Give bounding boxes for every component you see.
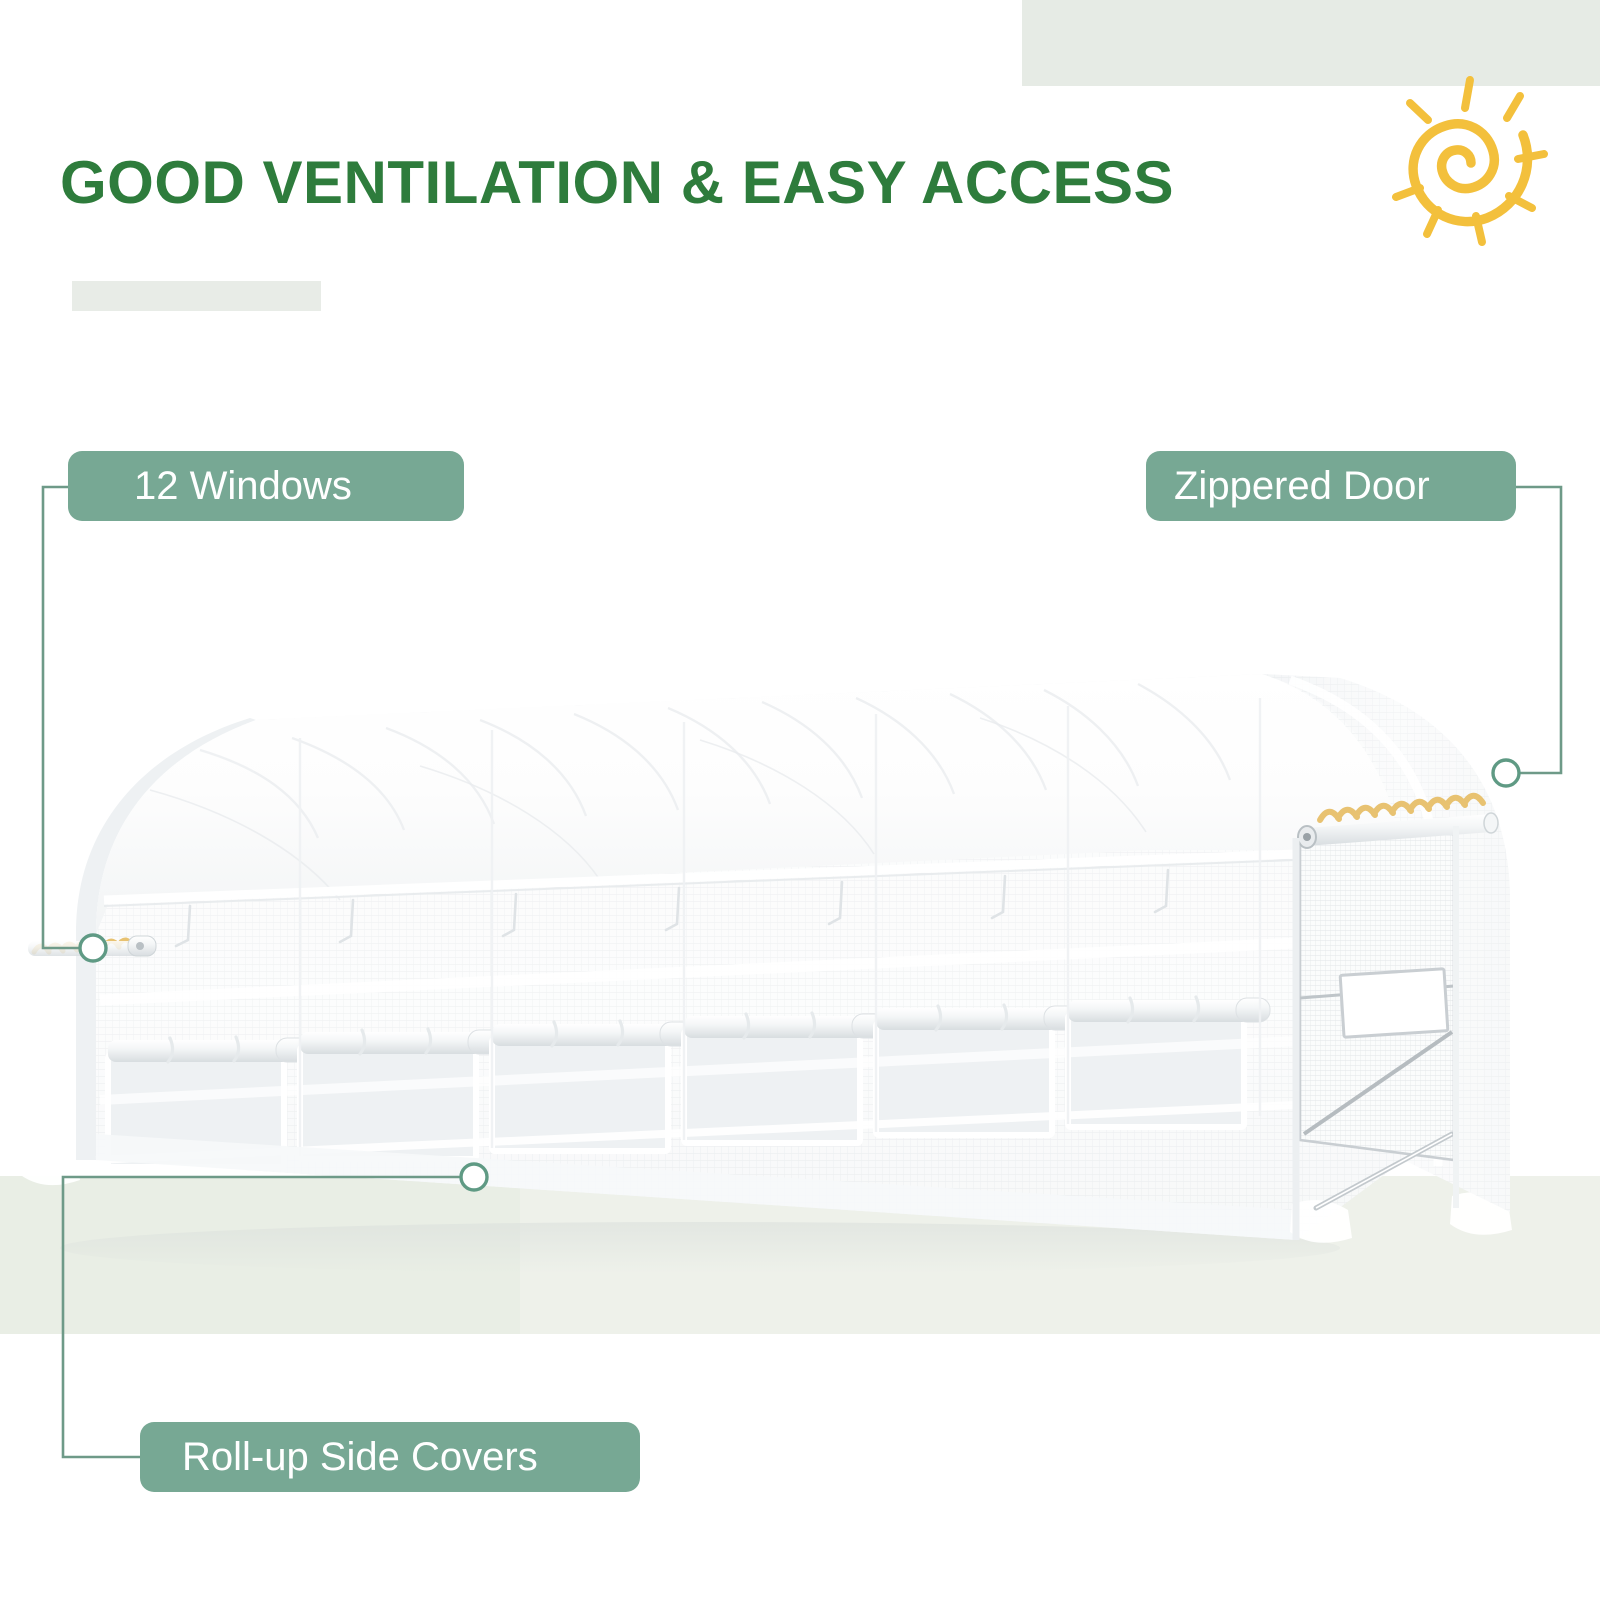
product-image-greenhouse [0,600,1600,1320]
callout-label-windows[interactable]: 12 Windows [68,451,464,521]
page-title: GOOD VENTILATION & EASY ACCESS [60,148,1174,217]
sun-icon [1352,62,1557,262]
infographic-canvas: GOOD VENTILATION & EASY ACCESS [0,0,1600,1600]
decorative-band-under-title [72,281,321,311]
callout-label-zippered-door[interactable]: Zippered Door [1146,451,1516,521]
callout-label-rollup-side-covers[interactable]: Roll-up Side Covers [140,1422,640,1492]
